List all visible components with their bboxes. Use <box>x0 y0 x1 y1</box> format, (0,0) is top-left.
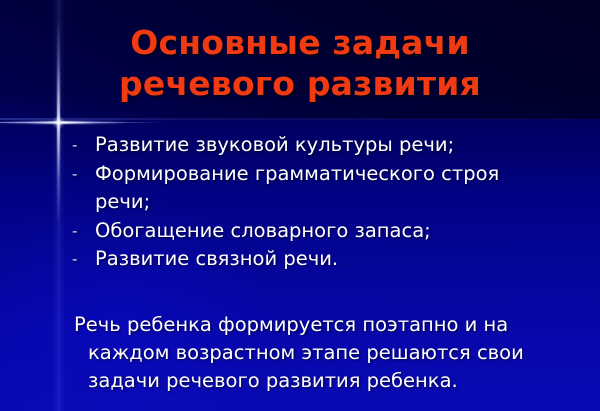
list-item-label: Формирование грамматического строя речи; <box>95 160 550 217</box>
bullet-dash-icon: - <box>68 160 95 189</box>
list-item-label: Развитие звуковой культуры речи; <box>95 131 550 160</box>
slide-closing-paragraph: Речь ребенка формируется поэтапно и на к… <box>70 311 566 395</box>
list-item: - Формирование грамматического строя реч… <box>68 160 568 217</box>
list-item: - Обогащение словарного запаса; <box>68 217 568 246</box>
slide-background-band-seam <box>0 118 600 120</box>
paragraph-line: задачи речевого развития ребенка. <box>88 369 458 392</box>
paragraph-line: каждом возрастном этапе решаются свои <box>88 341 524 364</box>
paragraph-line: Речь ребенка формируется поэтапно и на <box>74 313 508 336</box>
bullet-dash-icon: - <box>68 245 95 274</box>
bullet-dash-icon: - <box>68 131 95 160</box>
sparkle-core <box>52 116 65 129</box>
list-item: - Развитие звуковой культуры речи; <box>68 131 568 160</box>
bullet-dash-icon: - <box>68 217 95 246</box>
list-item: - Развитие связной речи. <box>68 245 568 274</box>
slide-bullet-list: - Развитие звуковой культуры речи; - Фор… <box>68 131 568 274</box>
list-item-label: Обогащение словарного запаса; <box>95 217 550 246</box>
list-item-label: Развитие связной речи. <box>95 245 550 274</box>
presentation-slide: Основные задачи речевого развития - Разв… <box>0 0 600 411</box>
sparkle-horizontal-streak <box>0 122 164 123</box>
slide-title: Основные задачи речевого развития <box>0 22 600 104</box>
